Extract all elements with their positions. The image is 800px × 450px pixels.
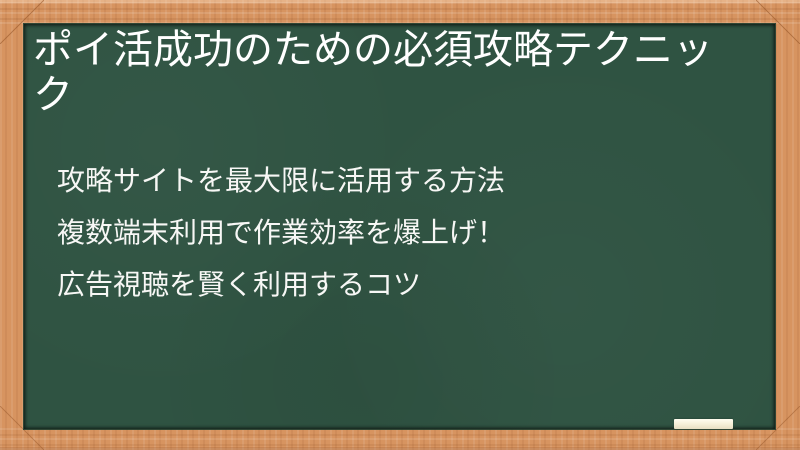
chalkboard-surface: ポイ活成功のための必須攻略テクニック 攻略サイトを最大限に活用する方法 複数端末…	[24, 24, 775, 429]
bullet-item-2: 複数端末利用で作業効率を爆上げ！	[57, 207, 747, 259]
frame-wood-grain-top	[0, 0, 800, 24]
chalkboard-slide: ポイ活成功のための必須攻略テクニック 攻略サイトを最大限に活用する方法 複数端末…	[0, 0, 800, 450]
bullet-list: 攻略サイトを最大限に活用する方法 複数端末利用で作業効率を爆上げ！ 広告視聴を賢…	[57, 155, 747, 311]
slide-title: ポイ活成功のための必須攻略テクニック	[33, 28, 745, 118]
bullet-item-3: 広告視聴を賢く利用するコツ	[57, 259, 747, 311]
bullet-item-1: 攻略サイトを最大限に活用する方法	[57, 155, 747, 207]
chalk-stick-icon	[674, 419, 733, 429]
frame-top-highlight	[0, 0, 800, 3]
